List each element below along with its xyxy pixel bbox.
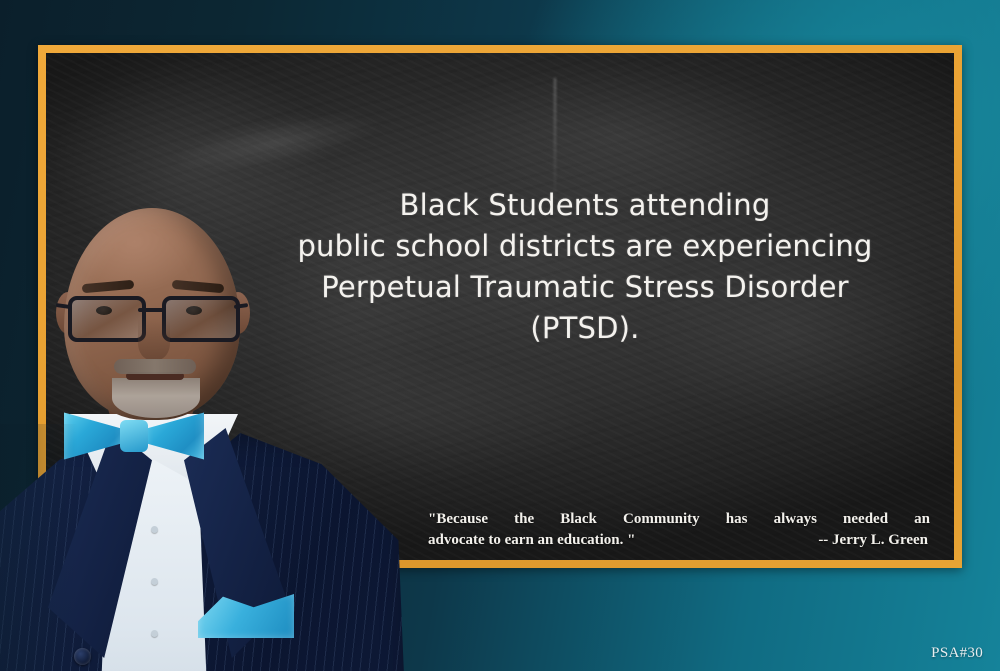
glasses-bridge <box>138 308 166 312</box>
mustache <box>114 359 196 374</box>
psa-number: PSA#30 <box>931 645 983 662</box>
lens-right <box>162 296 240 342</box>
quote-line-two: advocate to earn an education. " <box>428 530 635 551</box>
nose <box>138 318 170 360</box>
chalk-smudge-icon <box>554 78 556 200</box>
quote-line-two-row: advocate to earn an education. " -- Jerr… <box>428 530 930 551</box>
quote-block: "Because the Black Community has always … <box>428 509 930 551</box>
quote-attribution: -- Jerry L. Green <box>818 530 930 551</box>
lens-left <box>68 296 146 342</box>
goatee <box>112 378 200 418</box>
shirt-button <box>151 526 158 533</box>
bow-tie-knot <box>120 420 148 452</box>
footer: www.theblackstudentadvocate.com info@the… <box>0 568 1000 671</box>
chalk-smear-icon <box>171 101 385 182</box>
psa-poster: Black Students attending public school d… <box>0 0 1000 671</box>
bow-tie-left-wing <box>64 408 124 464</box>
quote-line-one: "Because the Black Community has always … <box>428 509 930 530</box>
